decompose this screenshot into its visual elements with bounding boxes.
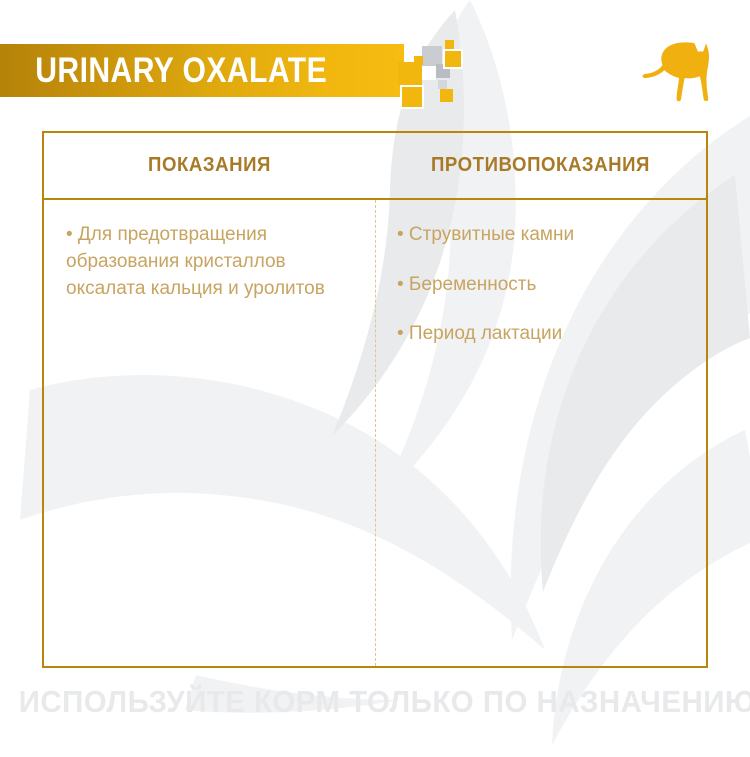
list-item: • Струвитные камни: [397, 222, 682, 249]
footer-disclaimer: ИСПОЛЬЗУЙТЕ КОРМ ТОЛЬКО ПО НАЗНАЧЕНИЮ ВР…: [19, 684, 732, 720]
header-band: URINARY OXALATE: [0, 44, 404, 97]
page-title: URINARY OXALATE: [0, 53, 327, 88]
mosaic-squares-decoration: [398, 34, 488, 114]
column-divider: [375, 200, 376, 666]
infographic-page: URINARY OXALATE ПОКАЗАНИЯ ПРОТИВОПОКАЗАН…: [0, 0, 750, 757]
column-header-indications: ПОКАЗАНИЯ: [56, 133, 364, 198]
table-body: • Для предотвращения образования кристал…: [44, 200, 706, 666]
list-item: • Беременность: [397, 272, 682, 299]
list-item: • Для предотвращения образования кристал…: [66, 222, 351, 303]
contraindications-cell: • Струвитные камни • Беременность • Пери…: [375, 200, 706, 666]
indications-table: ПОКАЗАНИЯ ПРОТИВОПОКАЗАНИЯ • Для предотв…: [42, 131, 708, 668]
column-header-contraindications: ПРОТИВОПОКАЗАНИЯ: [387, 133, 695, 198]
cat-silhouette-icon: [637, 40, 717, 108]
indications-cell: • Для предотвращения образования кристал…: [44, 200, 375, 666]
table-header-row: ПОКАЗАНИЯ ПРОТИВОПОКАЗАНИЯ: [44, 133, 706, 200]
list-item: • Период лактации: [397, 321, 682, 348]
